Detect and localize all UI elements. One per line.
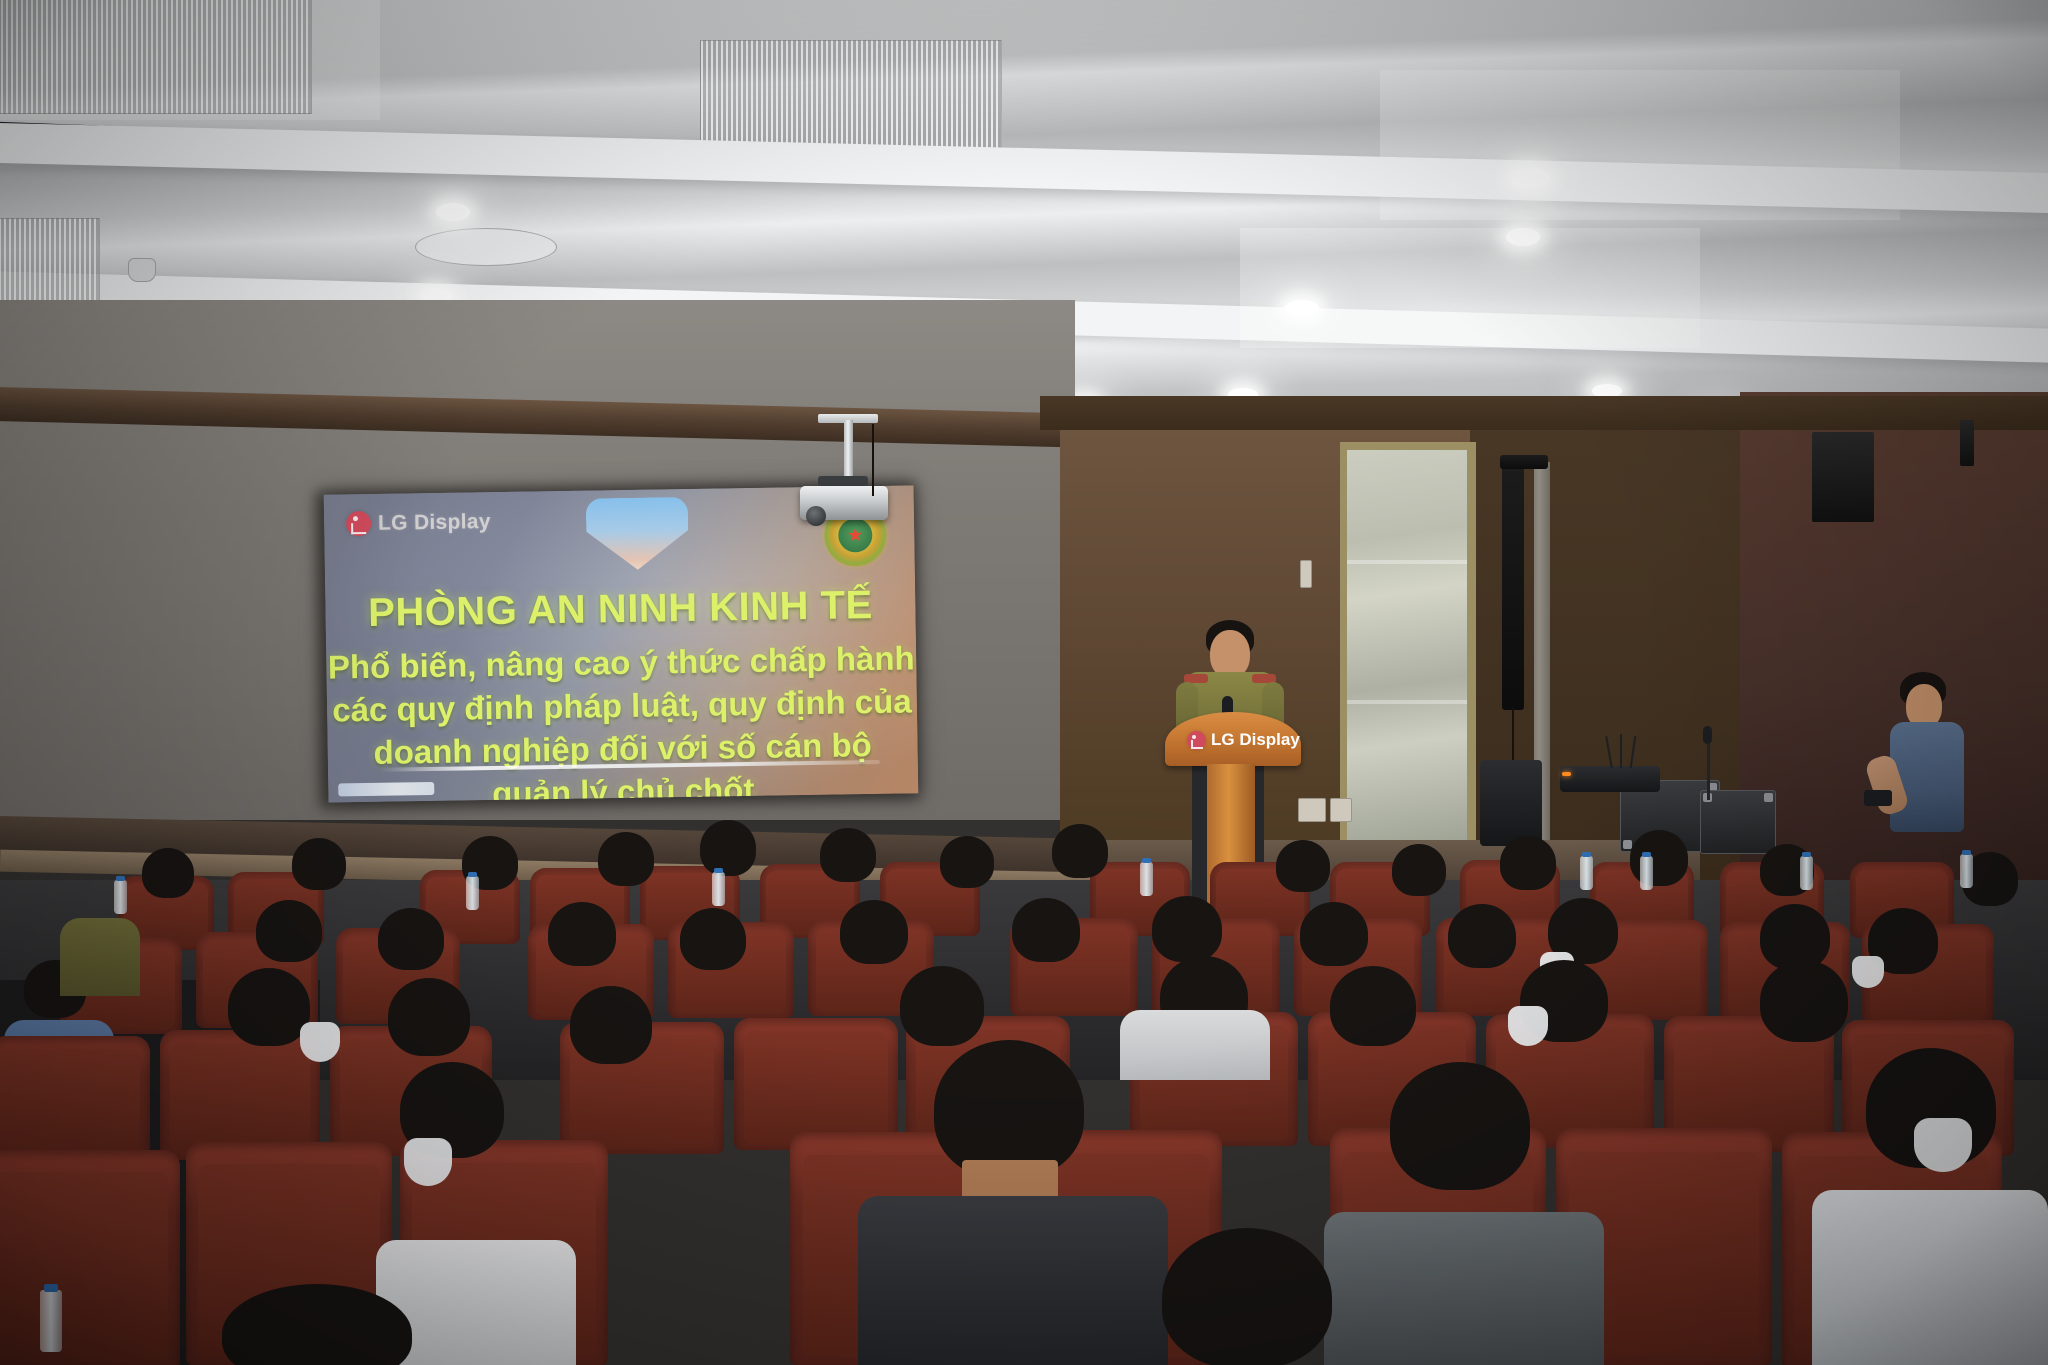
audience-shoulders [1324,1212,1604,1365]
audience-head [680,908,746,970]
emblem-star-icon: ★ [847,526,864,545]
audience-head [548,902,616,966]
audience-head [1630,830,1688,886]
water-bottle[interactable] [114,880,127,914]
audience-head [1162,1228,1332,1365]
audience-head [1760,960,1848,1042]
audience-shoulders [858,1196,1168,1365]
seat[interactable] [0,1036,150,1166]
downlight-icon [1510,168,1550,188]
face-mask [1852,956,1884,988]
audience-head [228,968,310,1046]
audience-head [1390,1062,1530,1190]
slide-accent-tab [338,782,434,797]
downlight-icon [1506,228,1540,246]
slide-title: PHÒNG AN NINH KINH TẾ [325,582,916,636]
lectern-logo-text: LG Display [1211,730,1300,750]
status-led-icon [1562,772,1571,776]
downlight-icon [436,203,470,221]
audience-head [1448,904,1516,968]
smoke-detector-icon [128,258,156,282]
audience-head [1330,966,1416,1046]
audience-shoulders [60,918,140,996]
audience-head [388,978,470,1056]
water-bottle[interactable] [712,872,725,906]
audience-head [820,828,876,882]
speaker-bracket [1500,455,1548,469]
rear-wall-band [1040,396,2048,430]
audience-head [256,900,322,962]
face-mask [1914,1118,1972,1172]
water-bottle[interactable] [1140,862,1153,896]
projector-lens-icon [806,506,826,526]
wall-outlet[interactable] [1300,560,1312,588]
slide-logo-text: LG Display [378,510,491,536]
slide-body: Phổ biến, nâng cao ý thức chấp hành các … [326,637,918,802]
smartphone[interactable] [1864,790,1892,806]
face-mask [300,1022,340,1062]
seat[interactable] [160,1030,320,1160]
seat[interactable] [0,1150,180,1365]
slide-lg-logo: LG Display [346,509,491,536]
column-speaker [1502,462,1524,710]
seat[interactable] [734,1018,898,1150]
audience-head [840,900,908,964]
audio-mixer[interactable] [1560,766,1660,792]
presenter-head [1210,630,1250,678]
microphone-head-icon [1703,726,1712,744]
ceiling-speaker [1812,432,1874,522]
audience-head [1012,898,1080,962]
audience-head [940,836,994,888]
audience-head [1276,840,1330,892]
water-bottle[interactable] [466,876,479,910]
downlight-icon [1285,300,1319,316]
projector-pole [844,420,853,482]
audience-shoulders [1120,1010,1270,1080]
lg-circle-icon [346,511,371,536]
projector-bracket [818,476,868,486]
water-bottle[interactable] [1960,854,1973,888]
audience-head [378,908,444,970]
audience-head [142,848,194,898]
water-bottle[interactable] [1640,856,1653,890]
audience-head [1300,902,1368,966]
wall-outlet[interactable] [1298,798,1326,822]
wall-outlet[interactable] [1330,798,1352,822]
ceiling-diffuser-icon [415,228,557,266]
face-mask [404,1138,452,1186]
audience-head [1152,896,1222,962]
lectern-logo: LG Display [1187,730,1300,750]
microphone-stand [1707,740,1710,800]
audience-head [1052,824,1108,878]
loudspeaker-monitor [1480,760,1542,846]
audience-head [900,966,984,1046]
audience-head [570,986,652,1064]
water-bottle[interactable] [1580,856,1593,890]
face-mask [1508,1006,1548,1046]
audience-shoulders [1812,1190,2048,1365]
audience-head [1392,844,1446,896]
projection-screen: LG Display ★ PHÒNG AN NINH KINH TẾ Phổ b… [324,485,919,802]
photo-scene: LG Display ★ PHÒNG AN NINH KINH TẾ Phổ b… [0,0,2048,1365]
lg-circle-icon [1187,731,1206,750]
ceiling-speaker-bracket [1960,420,1974,466]
audience-head [1500,836,1556,890]
audience-head [598,832,654,886]
audience-head [292,838,346,890]
water-bottle[interactable] [1800,856,1813,890]
attendee-torso [1890,722,1964,832]
water-bottle[interactable] [40,1290,62,1352]
flight-case [1700,790,1776,854]
glass-door[interactable] [1347,450,1467,852]
audience-head [700,820,756,876]
audience-head [934,1040,1084,1178]
